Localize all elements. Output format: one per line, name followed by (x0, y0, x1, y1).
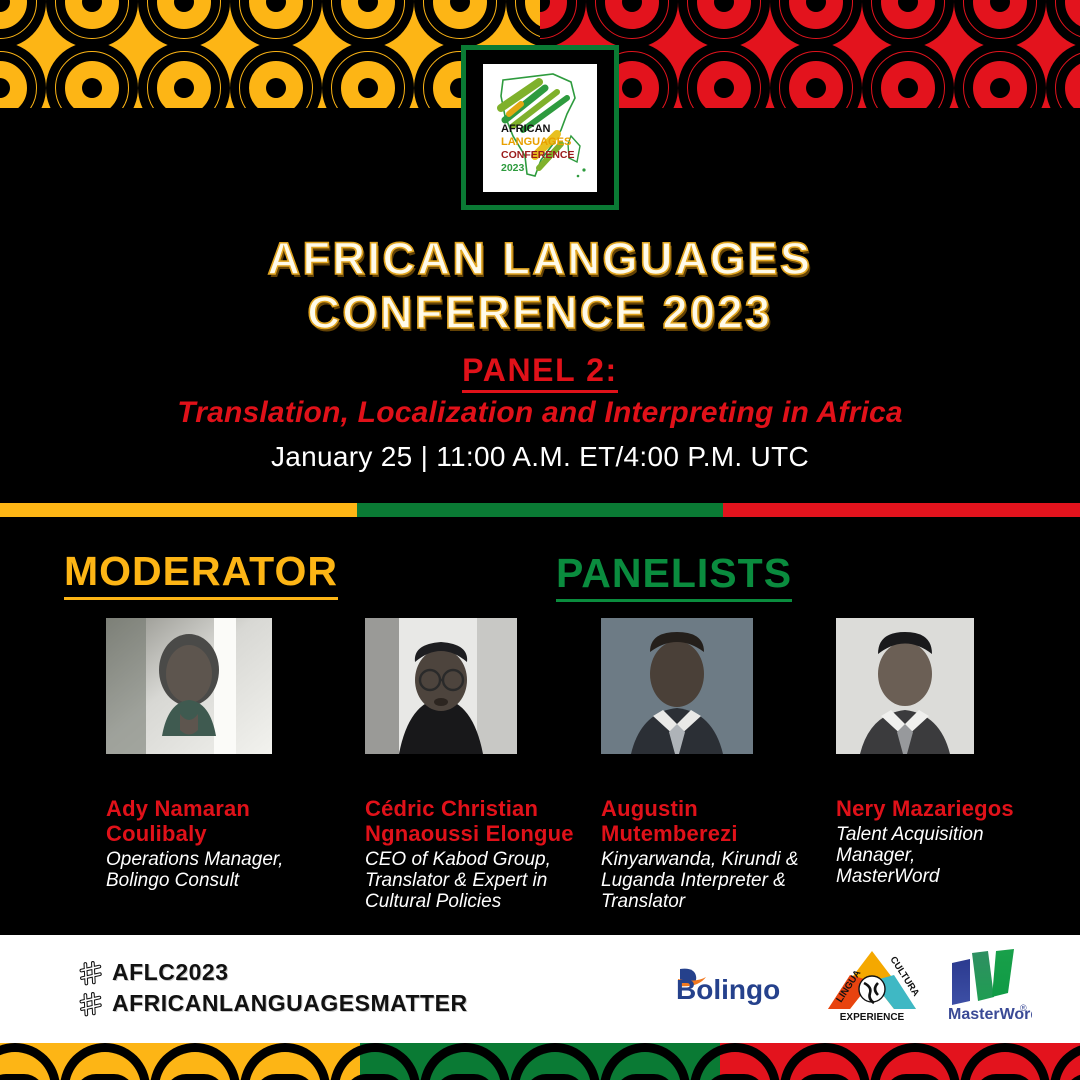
arch-motif (510, 1043, 600, 1080)
person-title: CEO of Kabod Group, Translator & Expert … (365, 849, 580, 912)
person-name: Ady Namaran Coulibaly (106, 796, 321, 846)
ring-row (540, 42, 1080, 108)
arch-row (360, 1043, 720, 1080)
tricolor-divider (0, 503, 1080, 517)
panel-datetime: January 25 | 11:00 A.M. ET/4:00 P.M. UTC (0, 441, 1080, 473)
person-name: Augustin Mutemberezi (601, 796, 813, 846)
person-title: Kinyarwanda, Kirundi & Luganda Interpret… (601, 849, 813, 912)
top-pattern-gold-half (0, 0, 540, 108)
bolingo-logo: Bolingo (668, 957, 808, 1013)
arch-motif (600, 1043, 690, 1080)
arch-motif (1050, 1043, 1080, 1080)
ring-motif (138, 0, 230, 48)
hash-icon (78, 960, 104, 986)
section-heading-panelists: PANELISTS (556, 550, 792, 597)
hashtag-item: AFRICANLANGUAGESMATTER (78, 988, 468, 1019)
panel-topic: Translation, Localization and Interpreti… (0, 396, 1080, 430)
ring-motif (46, 0, 138, 48)
sponsor-logos: Bolingo EXPERIENCE LINGUA CULTURA (668, 945, 1032, 1025)
person-card: Ady Namaran Coulibaly Operations Manager… (106, 618, 336, 891)
panelists-heading-label: PANELISTS (556, 550, 792, 602)
lce-word-experience: EXPERIENCE (840, 1012, 905, 1023)
arch-motif (720, 1043, 780, 1080)
conference-logo: AFRICAN LANGUAGES CONFERENCE 2023 (483, 64, 597, 192)
ring-motif (770, 42, 862, 108)
bolingo-wordmark: Bolingo (676, 974, 780, 1005)
avatar (365, 618, 517, 754)
title-line-1: AFRICAN LANGUAGES (0, 232, 1080, 286)
top-pattern-red-half (540, 0, 1080, 108)
moderator-heading-label: MODERATOR (64, 548, 338, 600)
section-heading-moderator: MODERATOR (64, 548, 338, 595)
bottom-pattern-red (720, 1043, 1080, 1080)
person-card: Nery Mazariegos Talent Acquisition Manag… (836, 618, 1066, 887)
person-name: Nery Mazariegos (836, 796, 1016, 821)
ring-motif (414, 0, 506, 48)
poster-canvas: AFRICAN LANGUAGES CONFERENCE 2023 AFRICA… (0, 0, 1080, 1080)
bottom-pattern-green (360, 1043, 720, 1080)
ring-motif (678, 0, 770, 48)
avatar (106, 618, 272, 754)
arch-motif (360, 1043, 420, 1080)
hashtag-label: AFLC2023 (112, 959, 228, 986)
arch-motif (960, 1043, 1050, 1080)
divider-segment-gold (0, 503, 357, 517)
hashtag-item: AFLC2023 (78, 957, 468, 988)
arch-motif (690, 1043, 720, 1080)
masterword-logo: MasterWord ® (936, 945, 1032, 1025)
bottom-pattern-gold (0, 1043, 360, 1080)
ring-motif (678, 42, 770, 108)
person-title: Talent Acquisition Manager, MasterWord (836, 824, 1006, 887)
avatar (601, 618, 753, 754)
bottom-arch-pattern (0, 1043, 1080, 1080)
panel-number: PANEL 2: (0, 352, 1080, 389)
arch-motif (420, 1043, 510, 1080)
ring-row (540, 0, 1080, 48)
ring-motif (322, 0, 414, 48)
africa-map-icon: AFRICAN LANGUAGES CONFERENCE 2023 (483, 64, 597, 192)
hashtag-label: AFRICANLANGUAGESMATTER (112, 990, 468, 1017)
ring-motif (0, 0, 46, 48)
portrait-photo-icon (106, 618, 272, 754)
svg-text:LANGUAGES: LANGUAGES (501, 136, 571, 148)
ring-row (0, 0, 540, 48)
ring-motif (862, 0, 954, 48)
person-card: Cédric Christian Ngnaoussi Elongue CEO o… (365, 618, 595, 912)
ring-motif (954, 0, 1046, 48)
arch-motif (0, 1043, 60, 1080)
ring-motif (586, 0, 678, 48)
hashtag-list: AFLC2023 AFRICANLANGUAGESMATTER (78, 957, 468, 1019)
portrait-photo-icon (836, 618, 974, 754)
lingua-cultura-experience-logo: EXPERIENCE LINGUA CULTURA (824, 947, 920, 1023)
ring-motif (230, 42, 322, 108)
arch-motif (150, 1043, 240, 1080)
hash-icon (78, 991, 104, 1017)
sponsor-masterword[interactable]: MasterWord ® (936, 945, 1032, 1025)
ring-motif (46, 42, 138, 108)
avatar (836, 618, 974, 754)
ring-motif (540, 0, 586, 48)
sponsor-bolingo[interactable]: Bolingo (668, 957, 808, 1013)
person-name: Cédric Christian Ngnaoussi Elongue (365, 796, 583, 846)
ring-motif (862, 42, 954, 108)
divider-segment-red (723, 503, 1080, 517)
arch-motif (60, 1043, 150, 1080)
ring-motif (0, 42, 46, 108)
ring-motif (1046, 42, 1080, 108)
footer-bar: AFLC2023 AFRICANLANGUAGESMATTER Boling (0, 935, 1080, 1043)
sponsor-lingua-cultura-experience[interactable]: EXPERIENCE LINGUA CULTURA (824, 947, 920, 1023)
portrait-photo-icon (601, 618, 753, 754)
arch-row (720, 1043, 1080, 1080)
person-title: Operations Manager, Bolingo Consult (106, 849, 306, 891)
ring-motif (230, 0, 322, 48)
ring-motif (770, 0, 862, 48)
divider-segment-green (357, 503, 723, 517)
svg-text:AFRICAN: AFRICAN (501, 123, 551, 135)
person-card: Augustin Mutemberezi Kinyarwanda, Kirund… (601, 618, 831, 912)
registered-mark: ® (1020, 1003, 1027, 1013)
ring-motif (954, 42, 1046, 108)
svg-text:2023: 2023 (501, 162, 525, 174)
arch-motif (240, 1043, 330, 1080)
ring-motif (1046, 0, 1080, 48)
conference-logo-badge: AFRICAN LANGUAGES CONFERENCE 2023 (461, 45, 619, 210)
panel-number-label: PANEL 2: (462, 352, 618, 393)
ring-motif (138, 42, 230, 108)
ring-motif (322, 42, 414, 108)
ring-motif (506, 0, 540, 48)
svg-text:CONFERENCE: CONFERENCE (501, 149, 575, 161)
title-line-2: CONFERENCE 2023 (0, 286, 1080, 340)
arch-motif (780, 1043, 870, 1080)
arch-motif (870, 1043, 960, 1080)
arch-motif (330, 1043, 360, 1080)
page-title: AFRICAN LANGUAGES CONFERENCE 2023 (0, 232, 1080, 340)
ring-row (0, 42, 540, 108)
portrait-photo-icon (365, 618, 517, 754)
arch-row (0, 1043, 360, 1080)
